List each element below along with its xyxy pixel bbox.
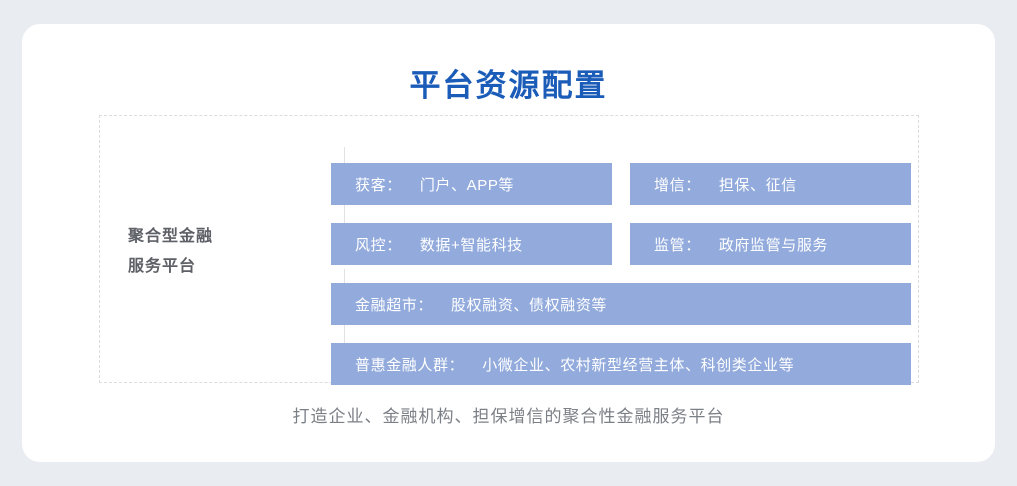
page-title: 平台资源配置 <box>22 66 995 106</box>
resource-box-key: 普惠金融人群： <box>355 354 464 375</box>
resource-box-value: 股权融资、债权融资等 <box>451 294 607 315</box>
resource-box-supervision[interactable]: 监管： 政府监管与服务 <box>630 223 911 265</box>
resource-box-risk-control[interactable]: 风控： 数据+智能科技 <box>331 223 612 265</box>
resource-box-inclusive-finance-group[interactable]: 普惠金融人群： 小微企业、农村新型经营主体、科创类企业等 <box>331 343 911 385</box>
resource-box-value: 担保、征信 <box>719 174 797 195</box>
resource-box-key: 增信： <box>654 174 701 195</box>
resource-box-financial-supermarket[interactable]: 金融超市： 股权融资、债权融资等 <box>331 283 911 325</box>
resource-box-value: 小微企业、农村新型经营主体、科创类企业等 <box>482 354 794 375</box>
resource-box-acquisition[interactable]: 获客： 门户、APP等 <box>331 163 612 205</box>
resource-box-value: 数据+智能科技 <box>420 234 523 255</box>
source-node-label-line2: 服务平台 <box>128 252 268 282</box>
slide-footer-text: 打造企业、金融机构、担保增信的聚合性金融服务平台 <box>22 402 995 427</box>
resource-box-credit-enhancement[interactable]: 增信： 担保、征信 <box>630 163 911 205</box>
source-node-label-line1: 聚合型金融 <box>128 222 268 252</box>
resource-box-value: 政府监管与服务 <box>719 234 828 255</box>
source-node-label: 聚合型金融 服务平台 <box>128 222 268 282</box>
slide-card: 平台资源配置 获客： 门户、APP等 增信： 担保、征信 风控： 数据+智能科技 <box>22 24 995 462</box>
resource-box-key: 金融超市： <box>355 294 433 315</box>
resource-box-key: 监管： <box>654 234 701 255</box>
resource-box-value: 门户、APP等 <box>420 174 514 195</box>
resource-box-key: 获客： <box>355 174 402 195</box>
resource-box-key: 风控： <box>355 234 402 255</box>
